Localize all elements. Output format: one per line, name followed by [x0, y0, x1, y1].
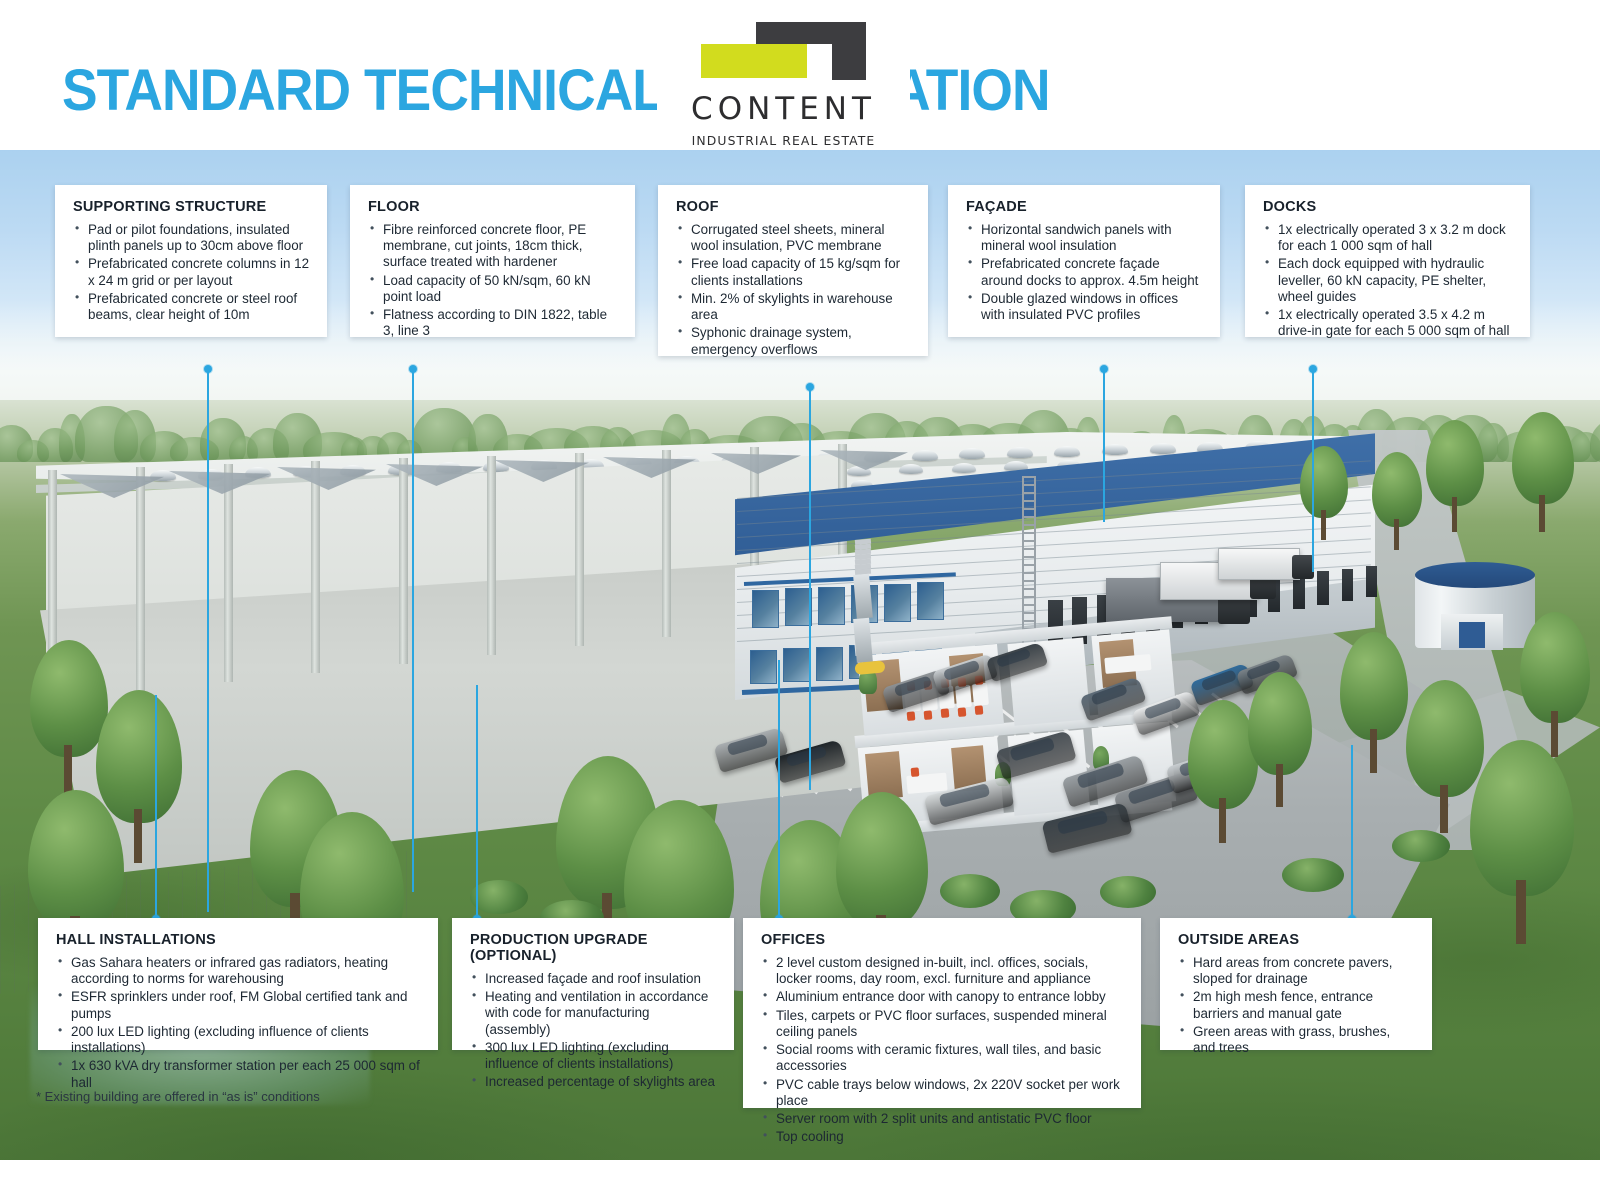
callout-box-docks[interactable]: DOCKS 1x electrically operated 3 x 3.2 m…: [1245, 185, 1530, 337]
list-item: Fibre reinforced concrete floor, PE memb…: [368, 222, 619, 271]
list-item: Hard areas from concrete pavers, sloped …: [1178, 955, 1416, 987]
footnote: * Existing building are offered in “as i…: [36, 1089, 320, 1104]
callout-pointer: [1309, 365, 1317, 573]
list-item: 200 lux LED lighting (excluding influenc…: [56, 1024, 422, 1056]
chair: [941, 709, 950, 719]
hall-column: [311, 461, 320, 673]
callout-pointer: [473, 685, 481, 923]
tree-crown: [1426, 420, 1484, 506]
logo-wordmark: CONTENT: [691, 91, 876, 127]
poster-canvas: STANDARD TECHNICALATION CONTENT INDUSTRI…: [0, 0, 1600, 1200]
company-logo[interactable]: CONTENT INDUSTRIAL REAL ESTATE: [657, 0, 910, 150]
box-list: Gas Sahara heaters or infrared gas radia…: [56, 955, 422, 1091]
box-title: OUTSIDE AREAS: [1178, 932, 1416, 948]
list-item: 300 lux LED lighting (excluding influenc…: [470, 1040, 718, 1072]
tree-trunk: [1516, 880, 1526, 944]
list-item: Flatness according to DIN 1822, table 3,…: [368, 307, 619, 339]
tree-crown: [1300, 446, 1348, 518]
tree-crown: [28, 790, 124, 930]
callout-box-facade[interactable]: FAÇADE Horizontal sandwich panels with m…: [948, 185, 1220, 337]
tree-crown: [1372, 452, 1422, 527]
box-list: Hard areas from concrete pavers, sloped …: [1178, 955, 1416, 1056]
list-item: Green areas with grass, brushes, and tre…: [1178, 1024, 1416, 1056]
title-part-1: STANDARD TECHNICAL: [62, 58, 664, 123]
box-list: Pad or pilot foundations, insulated plin…: [73, 222, 311, 323]
list-item: 2 level custom designed in-built, incl. …: [761, 955, 1125, 987]
bush: [1282, 858, 1344, 892]
office-window: [752, 590, 779, 628]
skylight-dome: [1007, 447, 1033, 458]
tree-trunk: [1370, 729, 1377, 773]
logo-mark: [701, 22, 866, 84]
list-item: Increased façade and roof insulation: [470, 971, 718, 987]
tree-trunk: [64, 745, 72, 793]
box-title: FAÇADE: [966, 199, 1204, 215]
list-item: Increased percentage of skylights area: [470, 1074, 718, 1090]
office-window: [816, 647, 843, 681]
tree-crown: [836, 792, 928, 929]
tree-crown: [1248, 672, 1312, 775]
chair: [907, 711, 916, 721]
callout-pointer: [409, 365, 417, 893]
skylight-dome: [952, 463, 976, 473]
skylight-dome: [912, 450, 938, 461]
callout-box-offices[interactable]: OFFICES 2 level custom designed in-built…: [743, 918, 1141, 1108]
list-item: Heating and ventilation in accordance wi…: [470, 989, 718, 1038]
pointer-stem: [1103, 372, 1105, 522]
callout-pointer: [1100, 365, 1108, 523]
list-item: Min. 2% of skylights in warehouse area: [676, 291, 912, 323]
list-item: Double glazed windows in offices with in…: [966, 291, 1204, 323]
list-item: Each dock equipped with hydraulic levell…: [1263, 256, 1514, 305]
list-item: Syphonic drainage system, emergency over…: [676, 325, 912, 357]
pointer-stem: [1312, 372, 1314, 572]
box-title: FLOOR: [368, 199, 619, 215]
bush: [940, 874, 1000, 908]
list-item: Prefabricated concrete façade around doc…: [966, 256, 1204, 288]
skylight-dome: [1150, 443, 1176, 454]
tree-trunk: [1219, 798, 1226, 843]
list-item: Load capacity of 50 kN/sqm, 60 kN point …: [368, 273, 619, 305]
tree: [1372, 452, 1422, 548]
callout-box-roof[interactable]: ROOF Corrugated steel sheets, mineral wo…: [658, 185, 928, 356]
chair: [924, 710, 933, 720]
box-list: Increased façade and roof insulation Hea…: [470, 971, 718, 1091]
title-part-2: ATION: [892, 58, 1049, 123]
tank-roof: [1415, 562, 1535, 588]
logo-green-block-icon: [701, 44, 807, 78]
list-item: Gas Sahara heaters or infrared gas radia…: [56, 955, 422, 987]
tree-crown: [1470, 740, 1574, 896]
dock-opening: [1366, 566, 1377, 597]
box-title: HALL INSTALLATIONS: [56, 932, 422, 948]
tree-crown: [1520, 612, 1590, 723]
list-item: 1x 630 kVA dry transformer station per e…: [56, 1058, 422, 1090]
lift-shaft: [853, 618, 873, 663]
tree: [1248, 672, 1312, 804]
callout-box-supporting-structure[interactable]: SUPPORTING STRUCTURE Pad or pilot founda…: [55, 185, 327, 337]
list-item: Aluminium entrance door with canopy to e…: [761, 989, 1125, 1005]
callout-box-outside-areas[interactable]: OUTSIDE AREAS Hard areas from concrete p…: [1160, 918, 1432, 1050]
skylight-dome: [959, 448, 985, 459]
pointer-stem: [809, 390, 811, 790]
box-list: Horizontal sandwich panels with mineral …: [966, 222, 1204, 323]
pointer-stem: [155, 695, 157, 915]
tree-crown: [1512, 412, 1574, 504]
list-item: Prefabricated concrete columns in 12 x 2…: [73, 256, 311, 288]
tree: [1520, 612, 1590, 754]
tree: [1426, 420, 1484, 530]
tree-trunk: [1551, 711, 1558, 756]
bush: [1392, 830, 1450, 862]
sprinkler-water-tank: [1415, 558, 1535, 648]
list-item: Horizontal sandwich panels with mineral …: [966, 222, 1204, 254]
callout-pointer: [204, 365, 212, 913]
box-title: PRODUCTION UPGRADE (OPTIONAL): [470, 932, 718, 964]
tree-trunk: [1321, 510, 1326, 539]
callout-pointer: [806, 383, 814, 791]
box-list: Corrugated steel sheets, mineral wool in…: [676, 222, 912, 358]
list-item: ESFR sprinklers under roof, FM Global ce…: [56, 989, 422, 1021]
box-list: 1x electrically operated 3 x 3.2 m dock …: [1263, 222, 1514, 340]
bush: [1100, 876, 1156, 908]
tree: [1300, 446, 1348, 538]
list-item: Corrugated steel sheets, mineral wool in…: [676, 222, 912, 254]
box-title: ROOF: [676, 199, 912, 215]
list-item: Social rooms with ceramic fixtures, wall…: [761, 1042, 1125, 1074]
pointer-stem: [207, 372, 209, 912]
dock-opening: [1317, 571, 1329, 605]
list-item: 2m high mesh fence, entrance barriers an…: [1178, 989, 1416, 1021]
box-title: OFFICES: [761, 932, 1125, 948]
skylight-dome: [899, 464, 923, 474]
tree-crown: [1340, 632, 1408, 740]
hall-column: [399, 458, 408, 664]
list-item: Tiles, carpets or PVC floor surfaces, su…: [761, 1008, 1125, 1040]
list-item: Free load capacity of 15 kg/sqm for clie…: [676, 256, 912, 288]
box-list: 2 level custom designed in-built, incl. …: [761, 955, 1125, 1145]
callout-pointer: [152, 695, 160, 923]
tree-trunk: [1440, 785, 1448, 833]
callout-pointer: [1348, 745, 1356, 923]
list-item: Top cooling: [761, 1129, 1125, 1145]
hall-column: [487, 456, 496, 655]
logo-tagline: INDUSTRIAL REAL ESTATE: [692, 133, 876, 148]
callout-box-floor[interactable]: FLOOR Fibre reinforced concrete floor, P…: [350, 185, 635, 337]
callout-box-production-upgrade[interactable]: PRODUCTION UPGRADE (OPTIONAL) Increased …: [452, 918, 734, 1050]
tree: [1512, 412, 1574, 530]
tree-trunk: [1394, 519, 1399, 550]
pointer-stem: [412, 372, 414, 892]
box-title: SUPPORTING STRUCTURE: [73, 199, 311, 215]
list-item: Prefabricated concrete or steel roof bea…: [73, 291, 311, 323]
chair: [975, 706, 984, 716]
tree-trunk: [134, 809, 143, 863]
truck-trailer: [1218, 548, 1300, 580]
lift-shaft: [853, 574, 873, 619]
pointer-stem: [476, 685, 478, 915]
list-item: 1x electrically operated 3.5 x 4.2 m dri…: [1263, 307, 1514, 339]
desk: [972, 683, 989, 706]
tank-door: [1459, 622, 1485, 648]
callout-pointer: [775, 660, 783, 923]
list-item: PVC cable trays below windows, 2x 220V s…: [761, 1077, 1125, 1109]
hall-column: [575, 453, 584, 646]
office-window: [750, 650, 777, 684]
chair: [958, 707, 967, 717]
tree-trunk: [1452, 497, 1458, 532]
list-item: Server room with 2 split units and antis…: [761, 1111, 1125, 1127]
hall-column: [662, 450, 671, 637]
box-title: DOCKS: [1263, 199, 1514, 215]
tree-trunk: [1539, 495, 1545, 533]
chair: [911, 767, 920, 777]
logo-arrow-stem: [832, 22, 866, 80]
dock-opening: [1342, 569, 1353, 601]
pointer-stem: [778, 660, 780, 915]
pointer-stem: [1351, 745, 1353, 915]
hall-column: [224, 464, 233, 682]
hall-column: [136, 467, 145, 691]
list-item: Pad or pilot foundations, insulated plin…: [73, 222, 311, 254]
tree-trunk: [1276, 764, 1282, 806]
distant-tree: [1590, 418, 1600, 462]
office-window: [818, 587, 845, 625]
box-list: Fibre reinforced concrete floor, PE memb…: [368, 222, 619, 340]
tree: [1470, 740, 1574, 940]
list-item: 1x electrically operated 3 x 3.2 m dock …: [1263, 222, 1514, 254]
callout-box-hall-installations[interactable]: HALL INSTALLATIONS Gas Sahara heaters or…: [38, 918, 438, 1050]
